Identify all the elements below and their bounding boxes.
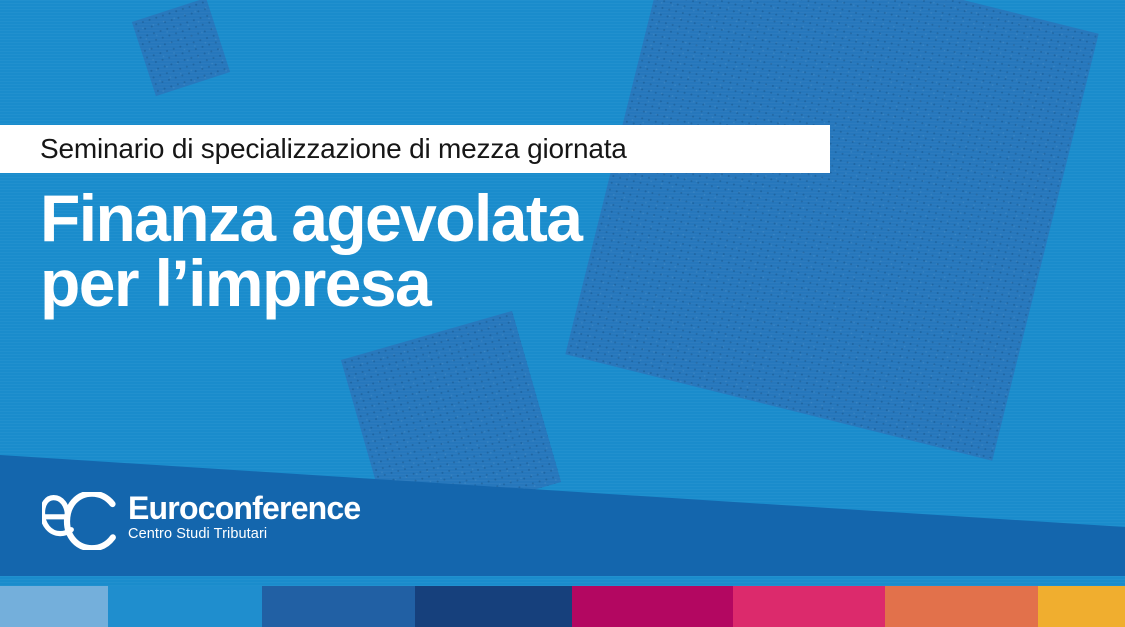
color-swatch-amber: [1038, 586, 1125, 627]
eyebrow-label-text: Seminario di specializzazione di mezza g…: [40, 133, 627, 165]
euroconference-logo[interactable]: Euroconference Centro Studi Tributari: [42, 492, 360, 550]
logo-name-text: Euroconference: [128, 492, 360, 525]
color-swatch-medium-blue: [108, 586, 262, 627]
color-swatch-navy-blue: [415, 586, 572, 627]
logo-tagline-text: Centro Studi Tributari: [128, 527, 360, 542]
color-swatch-magenta: [572, 586, 733, 627]
color-swatch-steel-blue: [262, 586, 415, 627]
event-banner: Seminario di specializzazione di mezza g…: [0, 0, 1125, 627]
color-swatch-pink: [733, 586, 885, 627]
color-swatch-light-blue: [0, 586, 108, 627]
eyebrow-label-bar: Seminario di specializzazione di mezza g…: [0, 125, 830, 173]
color-swatch-orange: [885, 586, 1038, 627]
banner-headline: Finanza agevolata per l’impresa: [40, 186, 581, 317]
ec-monogram-icon: [42, 492, 116, 550]
brand-color-strip: [0, 586, 1125, 627]
logo-wordmark: Euroconference Centro Studi Tributari: [128, 492, 360, 541]
